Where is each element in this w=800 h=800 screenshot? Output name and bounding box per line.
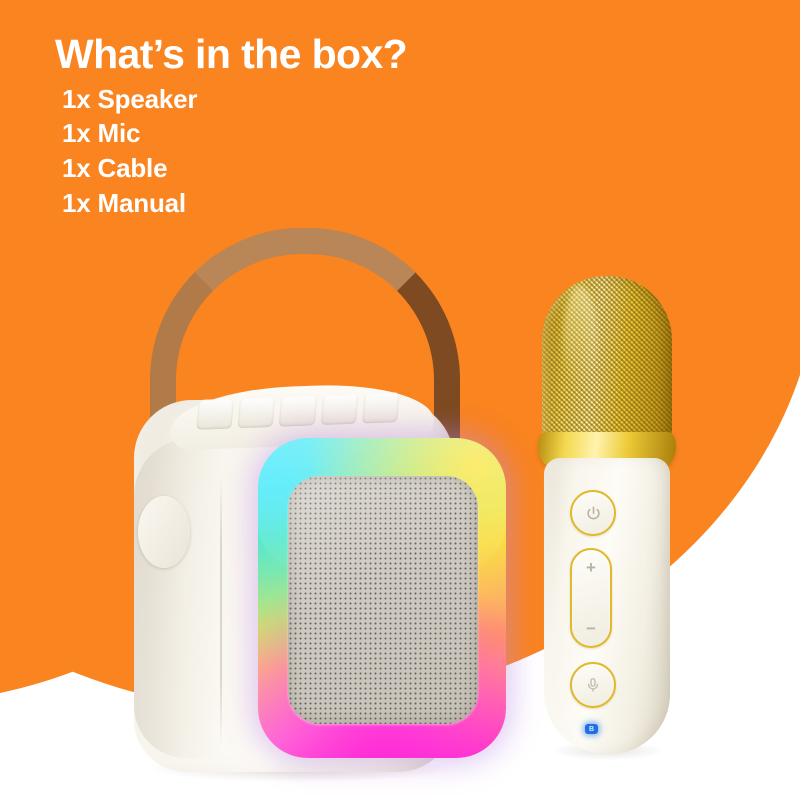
list-item: 1x Mic <box>62 116 525 151</box>
mesh-head-highlight <box>563 286 597 390</box>
speaker-side-shading <box>134 438 220 758</box>
top-control-key[interactable] <box>362 392 400 423</box>
grille-sheen <box>288 476 478 724</box>
mic-effect-button[interactable] <box>570 662 616 708</box>
handle-anchor-plate <box>138 496 190 568</box>
speaker-seam-line <box>220 478 222 746</box>
list-item: 1x Manual <box>62 186 525 221</box>
list-item: 1x Speaker <box>62 82 525 117</box>
bluetooth-led-indicator: B <box>585 724 598 734</box>
microphone-mesh-head <box>542 276 672 444</box>
speaker-grille <box>288 476 478 724</box>
page-title: What’s in the box? <box>55 34 525 76</box>
top-control-key[interactable] <box>196 398 234 429</box>
power-icon <box>585 505 602 522</box>
list-item: 1x Cable <box>62 151 525 186</box>
box-contents-list: 1x Speaker 1x Mic 1x Cable 1x Manual <box>55 82 525 220</box>
mic-power-button[interactable] <box>570 490 616 536</box>
volume-up-icon[interactable]: + <box>586 559 596 576</box>
volume-down-icon[interactable]: − <box>586 620 596 637</box>
mic-volume-button[interactable]: + − <box>570 548 612 648</box>
copy-block: What’s in the box? 1x Speaker 1x Mic 1x … <box>55 34 525 220</box>
top-control-key[interactable] <box>238 397 276 428</box>
speaker-product-image <box>120 228 520 773</box>
top-control-key[interactable] <box>320 394 358 425</box>
top-control-key[interactable] <box>279 395 317 426</box>
mic-icon <box>585 677 601 693</box>
product-promo-image: What’s in the box? 1x Speaker 1x Mic 1x … <box>0 0 800 800</box>
microphone-product-image: + − B <box>524 276 689 756</box>
